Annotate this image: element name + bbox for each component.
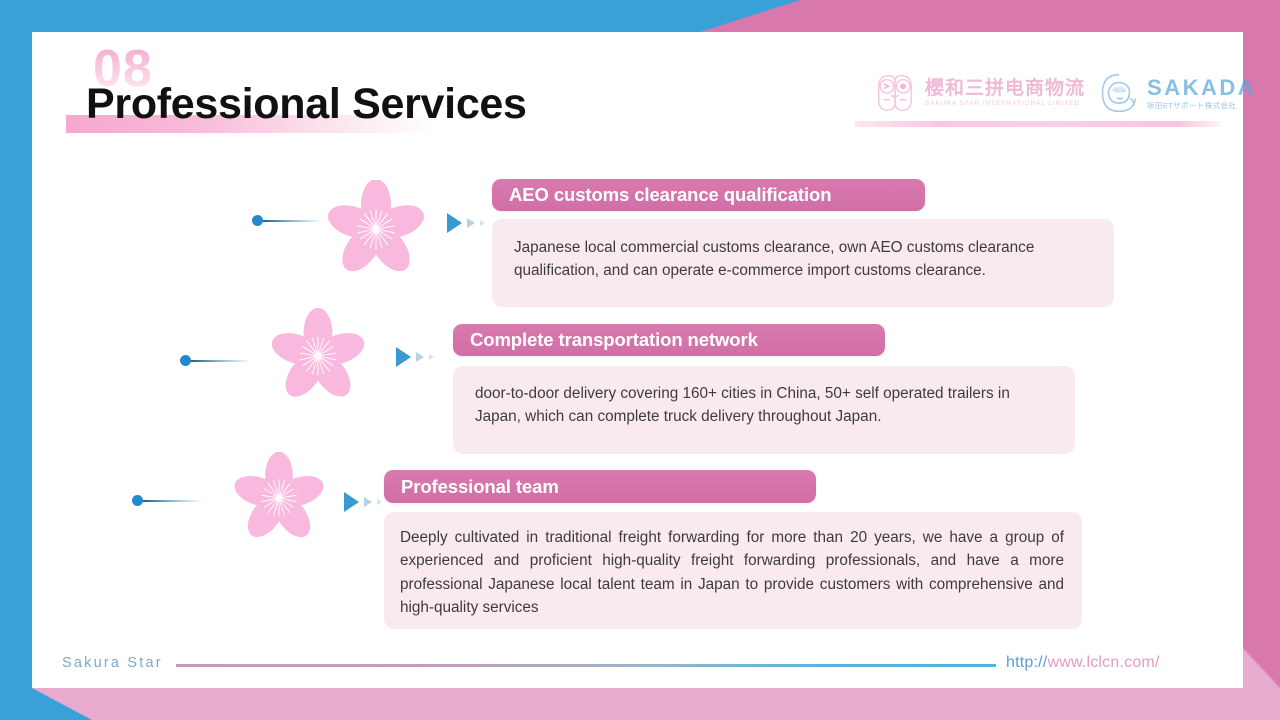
section-heading-1: AEO customs clearance qualification (492, 179, 925, 211)
arrow-cluster-1 (447, 213, 485, 233)
row-marker-dot-1 (252, 215, 323, 226)
frame-band-pink-bottom (88, 688, 1280, 720)
page-title: Professional Services (86, 82, 527, 127)
frame-band-blue-left (0, 0, 32, 688)
sakura-flower-icon-2 (266, 308, 370, 409)
section-body-3: Deeply cultivated in traditional freight… (384, 512, 1082, 629)
slide-canvas: 08 Professional Services (0, 0, 1280, 720)
frame-diagonal-bottom-left (32, 688, 92, 720)
section-heading-label: AEO customs clearance qualification (492, 184, 831, 206)
header-divider-rule (855, 121, 1220, 127)
sakura-star-logo: 櫻和三拼电商物流 SAKURA STAR INTERNATIONAL LIMIT… (872, 70, 1085, 116)
sakada-logo-jp: 坂田ETサポート株式会社 (1147, 102, 1256, 110)
arrow-right-icon (344, 492, 359, 512)
section-heading-2: Complete transportation network (453, 324, 885, 356)
dot-icon (252, 215, 263, 226)
section-body-2: door-to-door delivery covering 160+ citi… (453, 366, 1075, 454)
dot-icon (180, 355, 191, 366)
section-body-text: Deeply cultivated in traditional freight… (400, 526, 1064, 619)
arrow-right-small-icon (364, 497, 372, 507)
section-body-text: door-to-door delivery covering 160+ citi… (475, 382, 1053, 429)
logo-group: 櫻和三拼电商物流 SAKURA STAR INTERNATIONAL LIMIT… (872, 70, 1256, 116)
arrow-right-tiny-icon (377, 499, 382, 505)
sakada-logo-text: SAKADA 坂田ETサポート株式会社 (1147, 77, 1256, 110)
dot-icon (132, 495, 143, 506)
section-heading-label: Complete transportation network (453, 329, 758, 351)
sakura-flower-icon-1 (322, 180, 430, 283)
frame-diagonal-top (700, 0, 800, 32)
footer-url-host: www.lclcn.com/ (1047, 654, 1159, 671)
frame-corner-blue-bottom (0, 688, 32, 720)
sakura-star-logo-cn: 櫻和三拼电商物流 (925, 79, 1085, 98)
section-body-text: Japanese local commercial customs cleara… (514, 236, 1092, 283)
arrow-cluster-2 (396, 347, 434, 367)
sakada-logo: SAKADA 坂田ETサポート株式会社 (1097, 71, 1256, 115)
sakura-star-logo-text: 櫻和三拼电商物流 SAKURA STAR INTERNATIONAL LIMIT… (925, 79, 1085, 108)
footer-url[interactable]: http://www.lclcn.com/ (1006, 654, 1160, 672)
section-body-1: Japanese local commercial customs cleara… (492, 219, 1114, 307)
sakura-star-logo-en: SAKURA STAR INTERNATIONAL LIMITED (925, 101, 1085, 108)
section-heading-3: Professional team (384, 470, 816, 503)
arrow-right-small-icon (467, 218, 475, 228)
arrow-right-tiny-icon (480, 220, 485, 226)
arrow-right-icon (447, 213, 462, 233)
lead-line (143, 500, 203, 502)
footer-divider-line (176, 664, 996, 667)
frame-diagonal-bottom-right (1243, 648, 1280, 688)
footer-brand: Sakura Star (62, 655, 163, 671)
arrow-cluster-3 (344, 492, 382, 512)
arrow-right-small-icon (416, 352, 424, 362)
mascot-mark-icon (1097, 71, 1141, 115)
lead-line (263, 220, 323, 222)
footer-url-protocol: http:// (1006, 654, 1047, 671)
owl-mark-icon (872, 70, 918, 116)
lead-line (191, 360, 251, 362)
section-heading-label: Professional team (384, 476, 559, 498)
arrow-right-tiny-icon (429, 354, 434, 360)
sakura-flower-icon-3 (229, 452, 329, 549)
frame-band-blue-top (0, 0, 795, 32)
sakada-logo-en: SAKADA (1147, 77, 1256, 99)
row-marker-dot-3 (132, 495, 203, 506)
arrow-right-icon (396, 347, 411, 367)
row-marker-dot-2 (180, 355, 251, 366)
frame-band-pink-top (795, 0, 1280, 32)
